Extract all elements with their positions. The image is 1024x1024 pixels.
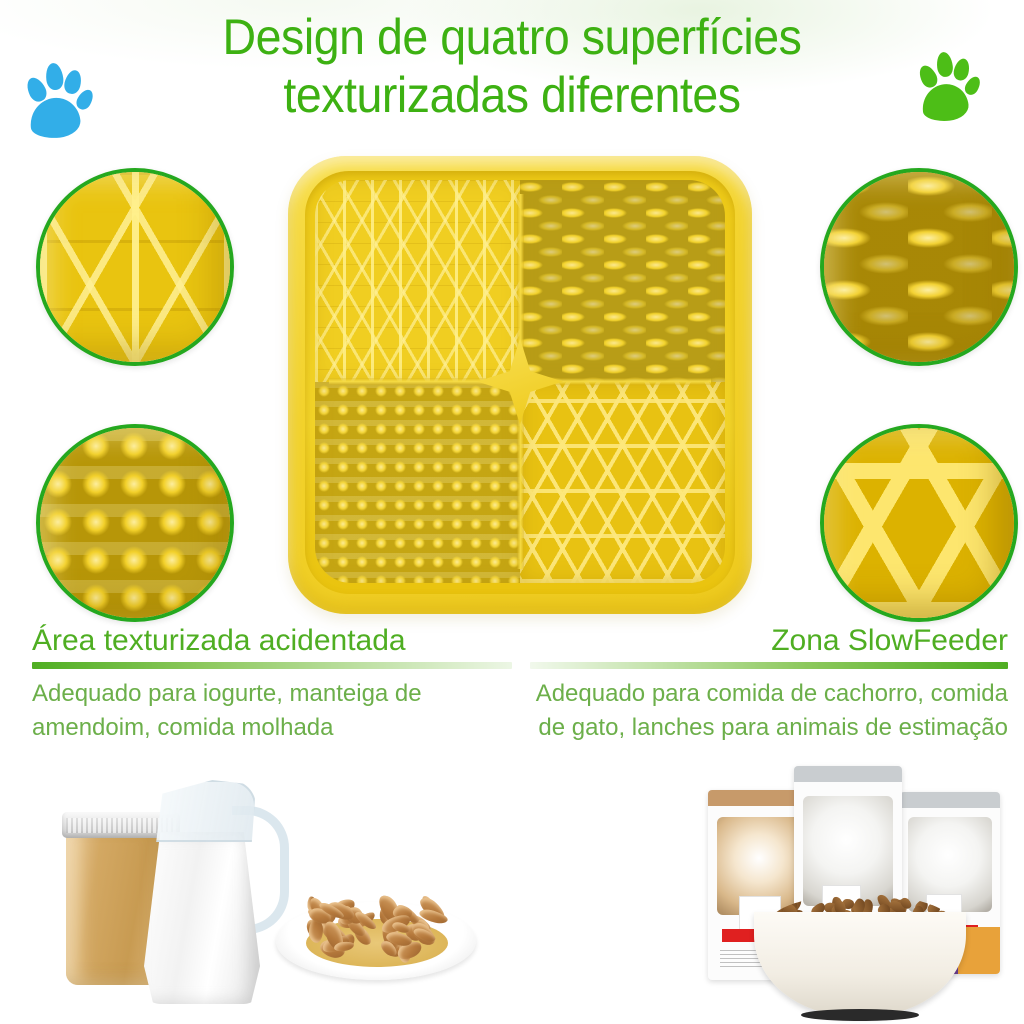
milk-pitcher [138, 772, 268, 1007]
dry-food-photo [668, 762, 1024, 1024]
food-bowl [754, 912, 966, 1016]
caption-right-heading: Zona SlowFeeder [530, 622, 1008, 660]
mat-surface [315, 180, 725, 583]
caption-right-underline [530, 662, 1008, 669]
paw-print-blue-icon [18, 58, 96, 144]
mat-quadrant-honeycomb [520, 382, 725, 584]
caption-left-underline [32, 662, 512, 669]
title-line-2: texturizadas diferentes [36, 66, 988, 124]
caption-left-subtext: Adequado para iogurte, manteiga de amend… [32, 677, 512, 745]
caption-right: Zona SlowFeeder Adequado para comida de … [530, 622, 1008, 745]
detail-circle-honeycomb [820, 424, 1018, 622]
product-infographic: Design de quatro superfícies texturizada… [0, 0, 1024, 1024]
title-line-1: Design de quatro superfícies [36, 8, 988, 66]
detail-circle-oval-bumps [820, 168, 1018, 366]
lick-mat-product-image [288, 156, 752, 614]
detail-circle-dot-bumps [36, 424, 234, 622]
caption-left: Área texturizada acidentada Adequado par… [32, 622, 512, 745]
mat-rim [305, 171, 735, 594]
caption-left-heading: Área texturizada acidentada [32, 622, 512, 660]
page-title: Design de quatro superfícies texturizada… [0, 8, 1024, 124]
mat-quadrant-oval-bumps [520, 180, 725, 382]
wet-food-photo [28, 762, 488, 1024]
caption-right-subtext: Adequado para comida de cachorro, comida… [530, 677, 1008, 745]
paw-print-green-icon [911, 47, 983, 126]
mat-quadrant-y-ridges [315, 180, 520, 382]
mat-quadrant-dot-bumps [315, 382, 520, 584]
wet-food-chunks [304, 890, 454, 952]
detail-circle-y-ridges [36, 168, 234, 366]
